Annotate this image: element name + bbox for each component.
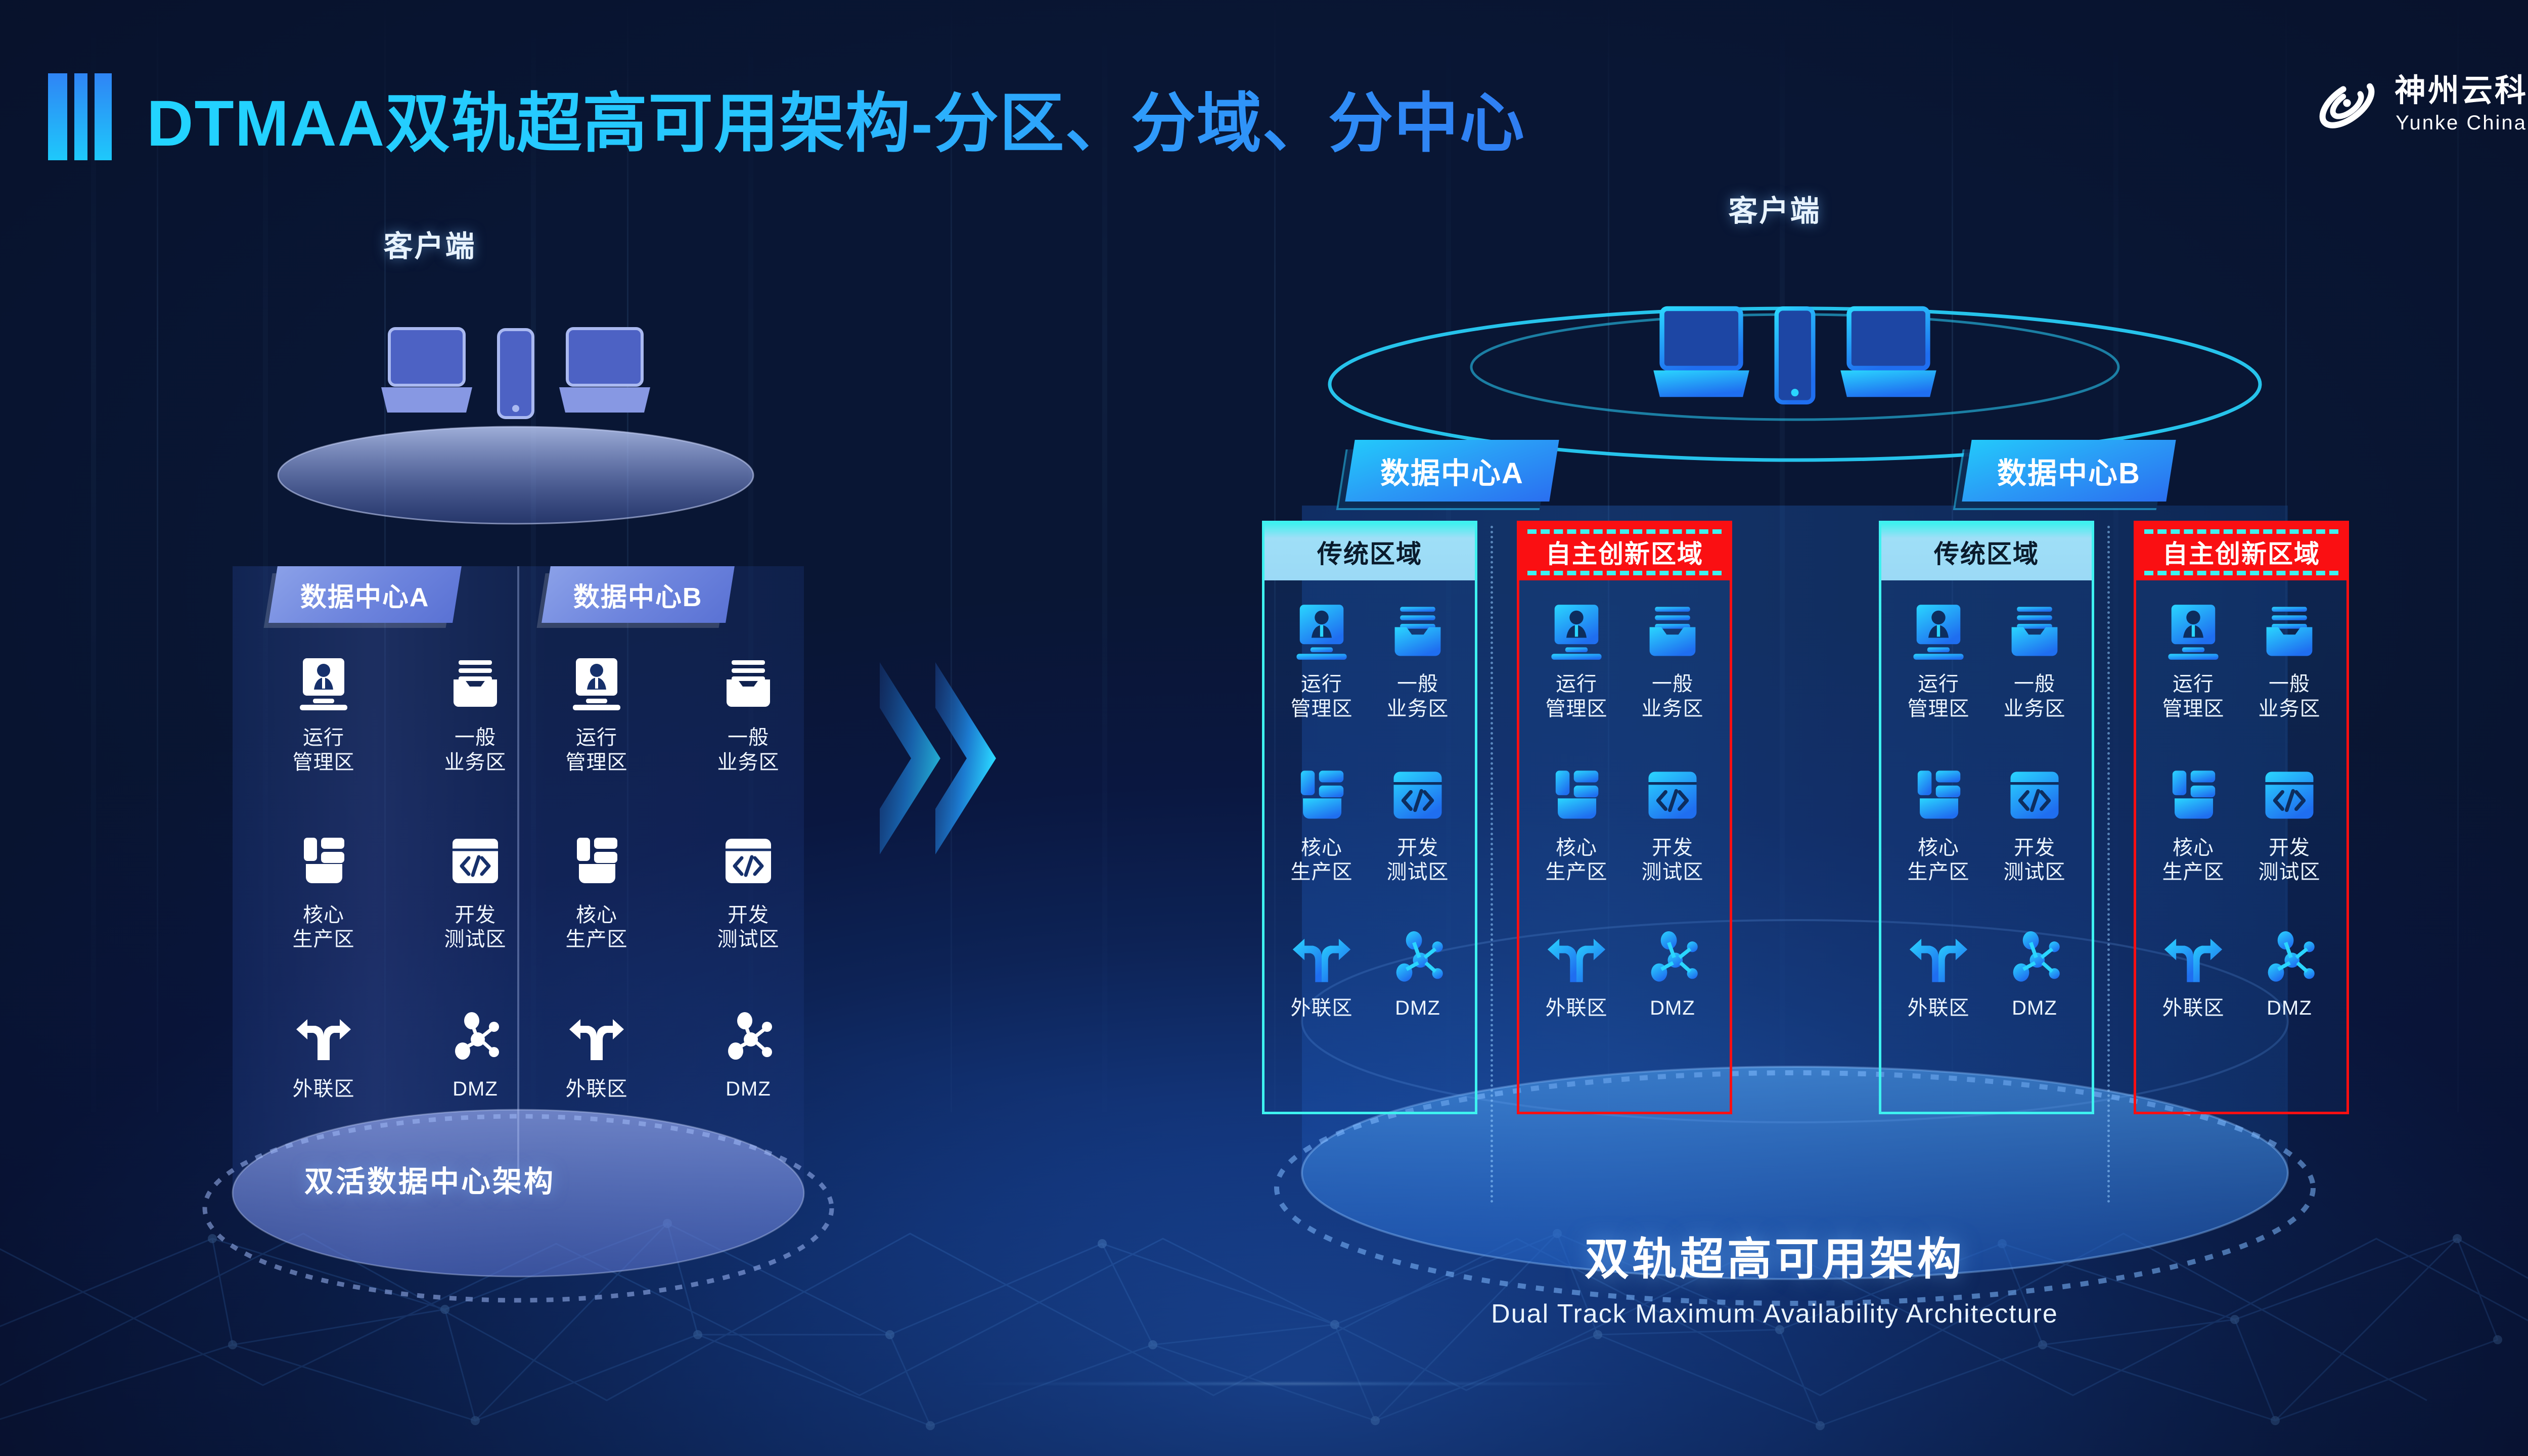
left-zone-label: 生产区 — [293, 927, 355, 952]
inbox-tray-icon — [1388, 604, 1448, 664]
right-bottom-title: 双轨超高可用架构 Dual Track Maximum Availability… — [961, 1223, 2528, 1329]
zone-cell[interactable]: 外联区 — [1890, 931, 1987, 1095]
monitor-user-icon — [1547, 604, 1606, 664]
code-window-icon — [2260, 767, 2319, 828]
left-zone-label: 业务区 — [444, 750, 507, 775]
zone-cell-label: 业务区 — [2259, 697, 2321, 721]
zone-cell-label: 一般 — [2014, 672, 2055, 697]
zone-header: 自主创新区域 — [2134, 521, 2349, 580]
left-dc-b-zone-column-2: 一般 业务区 开发 测试区 DMZ — [672, 657, 824, 1102]
inbox-tray-icon — [720, 657, 776, 714]
left-zone-label: 测试区 — [444, 927, 507, 952]
page-title: DTMAA双轨超高可用架构-分区、分域、分中心 — [147, 71, 1525, 164]
laptop-icon — [1835, 303, 1942, 404]
branch-arrows-icon — [569, 1012, 624, 1066]
zone-body: 运行管理区 一般业务区 核心生产区 开发测试区 外联区 DMZ — [2134, 580, 2349, 1114]
zone-cell-label: 外联区 — [1291, 996, 1353, 1021]
bottom-title-en: Dual Track Maximum Availability Architec… — [961, 1299, 2528, 1329]
zone-cell[interactable]: 运行管理区 — [1890, 604, 1987, 767]
left-zone-label: 开发 — [728, 903, 769, 928]
zone-cell-label: 业务区 — [1387, 697, 1449, 721]
zone-cell[interactable]: DMZ — [2241, 931, 2337, 1095]
branch-arrows-icon — [2163, 931, 2223, 988]
zone-cell-label: DMZ — [2012, 996, 2057, 1021]
zone-cell-label: 测试区 — [2259, 860, 2321, 885]
left-zone-label: 管理区 — [566, 750, 628, 775]
zone-cell[interactable]: 一般业务区 — [1987, 604, 2083, 767]
zone-cell[interactable]: 核心生产区 — [1528, 767, 1624, 931]
code-window-icon — [2005, 767, 2064, 828]
left-zone-cell[interactable]: DMZ — [672, 1012, 824, 1102]
server-stack-icon — [296, 835, 351, 892]
branch-arrows-icon — [1909, 931, 1968, 988]
left-dc-tag-a[interactable]: 数据中心A — [268, 566, 461, 623]
zone-cell[interactable]: 一般业务区 — [2241, 604, 2337, 767]
code-window-icon — [447, 835, 503, 892]
zone-cell[interactable]: DMZ — [1624, 931, 1721, 1095]
inbox-tray-icon — [2005, 604, 2064, 664]
zone-cell[interactable]: 开发测试区 — [1370, 767, 1466, 931]
left-dc-tag-a-label: 数据中心A — [300, 576, 430, 614]
code-window-icon — [1643, 767, 1702, 828]
zone-cell-label: 开发 — [2014, 836, 2055, 860]
left-zone-cell[interactable]: 外联区 — [521, 1012, 672, 1102]
right-architecture-diagram: 客户端 — [961, 167, 2528, 1456]
left-zone-label: DMZ — [726, 1077, 771, 1102]
phone-icon — [1772, 306, 1818, 404]
zone-cell-label: 一般 — [2269, 672, 2310, 697]
code-window-icon — [720, 835, 776, 892]
zone-cell-label: 业务区 — [2004, 697, 2066, 721]
zone-body: 运行管理区 一般业务区 核心生产区 开发测试区 外联区 DMZ — [1879, 580, 2094, 1114]
left-zone-label: 外联区 — [293, 1077, 355, 1102]
zone-cell[interactable]: 核心生产区 — [1274, 767, 1370, 931]
zone-cell-label: 管理区 — [1546, 697, 1608, 721]
laptop-icon — [1648, 303, 1755, 404]
zone-cell-label: 测试区 — [1642, 860, 1704, 885]
right-client-label: 客户端 — [961, 187, 2528, 230]
zone-cell-label: 运行 — [1301, 672, 1342, 697]
zone-cell[interactable]: 外联区 — [2145, 931, 2241, 1095]
inbox-tray-icon — [2260, 604, 2319, 664]
brand-logo: 神州云科 Yunke China — [2314, 71, 2528, 138]
zone-body: 运行管理区 一般业务区 核心生产区 开发测试区 外联区 DMZ — [1262, 580, 1477, 1114]
left-dc-tag-b-label: 数据中心B — [573, 576, 703, 614]
zone-cell-label: 管理区 — [1908, 697, 1970, 721]
zone-cell-label: DMZ — [1650, 996, 1695, 1021]
zone-header-label: 自主创新区域 — [1546, 534, 1703, 570]
zone-cell-label: 管理区 — [2162, 697, 2225, 721]
zone-cell-label: 运行 — [1918, 672, 1959, 697]
zone-cell[interactable]: 开发测试区 — [1987, 767, 2083, 931]
zone-cell-label: 测试区 — [1387, 860, 1449, 885]
left-zone-cell[interactable]: 运行 管理区 — [248, 657, 399, 775]
brand-name-cn: 神州云科 — [2395, 75, 2528, 107]
left-dc-b-zone-column-1: 运行 管理区 核心 生产区 外联区 — [521, 657, 672, 1102]
right-client-devices — [1593, 303, 1997, 404]
zone-body: 运行管理区 一般业务区 核心生产区 开发测试区 外联区 DMZ — [1517, 580, 1732, 1114]
zone-dc-a-innovation[interactable]: 自主创新区域 运行管理区 一般业务区 核心生产区 开发测试区 外联区 DMZ — [1517, 521, 1732, 1114]
right-dc-tag-a[interactable]: 数据中心A — [1345, 440, 1559, 502]
left-client-label: 客户端 — [0, 222, 860, 265]
left-zone-label: 核心 — [303, 903, 344, 928]
server-stack-icon — [1909, 767, 1968, 828]
zone-cell-label: 开发 — [1397, 836, 1438, 860]
zone-cell[interactable]: 开发测试区 — [1624, 767, 1721, 931]
server-stack-icon — [1547, 767, 1606, 828]
zone-cell-label: 生产区 — [1291, 860, 1353, 885]
server-stack-icon — [569, 835, 624, 892]
dc-a-zone-divider — [1491, 526, 1493, 1203]
zone-cell-label: 生产区 — [2162, 860, 2225, 885]
zone-cell-label: 外联区 — [2162, 996, 2225, 1021]
zone-cell-label: 一般 — [1397, 672, 1438, 697]
inbox-tray-icon — [1643, 604, 1702, 664]
zone-cell-label: 外联区 — [1908, 996, 1970, 1021]
zone-cell[interactable]: 外联区 — [1274, 931, 1370, 1095]
network-nodes-icon — [1643, 931, 1702, 988]
monitor-user-icon — [1909, 604, 1968, 664]
network-nodes-icon — [720, 1012, 776, 1066]
zone-cell-label: DMZ — [2267, 996, 2312, 1021]
double-chevron-right-icon — [880, 657, 1031, 859]
right-dc-tag-a-label: 数据中心A — [1380, 449, 1524, 492]
zone-cell-label: 运行 — [2173, 672, 2214, 697]
zone-cell-label: 开发 — [2269, 836, 2310, 860]
zone-cell[interactable]: 运行管理区 — [1274, 604, 1370, 767]
left-zone-cell[interactable]: 一般 业务区 — [672, 657, 824, 775]
zone-cell[interactable]: 运行管理区 — [1528, 604, 1624, 767]
server-stack-icon — [2163, 767, 2223, 828]
left-architecture-diagram: 客户端 — [0, 212, 860, 1274]
zone-header: 传统区域 — [1879, 521, 2094, 580]
zone-cell-label: 测试区 — [2004, 860, 2066, 885]
zone-cell-label: 外联区 — [1546, 996, 1608, 1021]
left-zone-label: 测试区 — [717, 927, 780, 952]
network-nodes-icon — [1388, 931, 1448, 988]
left-zone-label: 核心 — [576, 903, 617, 928]
zone-cell-label: 核心 — [2173, 836, 2214, 860]
zone-cell[interactable]: 运行管理区 — [2145, 604, 2241, 767]
network-nodes-icon — [2005, 931, 2064, 988]
left-diagram-caption: 双活数据中心架构 — [0, 1158, 860, 1200]
left-zone-label: 运行 — [576, 725, 617, 750]
zone-cell[interactable]: 核心生产区 — [2145, 767, 2241, 931]
left-zone-label: 生产区 — [566, 927, 628, 952]
left-zone-cell[interactable]: 运行 管理区 — [521, 657, 672, 775]
zone-cell-label: 核心 — [1301, 836, 1342, 860]
zone-dc-b-traditional[interactable]: 传统区域 运行管理区 一般业务区 核心生产区 开发测试区 外联区 DMZ — [1879, 521, 2094, 1114]
zone-header-label: 自主创新区域 — [2162, 534, 2320, 570]
zone-header-label: 传统区域 — [1934, 534, 2039, 570]
zone-cell-label: 运行 — [1556, 672, 1597, 697]
branch-arrows-icon — [296, 1012, 351, 1066]
zone-cell-label: DMZ — [1395, 996, 1440, 1021]
left-dc-a-zone-column-1: 运行 管理区 核心 生产区 外联区 — [248, 657, 399, 1102]
dc-b-zone-divider — [2107, 526, 2110, 1203]
branch-arrows-icon — [1292, 931, 1351, 988]
branch-arrows-icon — [1547, 931, 1606, 988]
zone-cell-label: 核心 — [1918, 836, 1959, 860]
network-nodes-icon — [447, 1012, 503, 1066]
zone-cell-label: 生产区 — [1546, 860, 1608, 885]
zone-cell[interactable]: 核心生产区 — [1890, 767, 1987, 931]
zone-dc-b-innovation[interactable]: 自主创新区域 运行管理区 一般业务区 核心生产区 开发测试区 外联区 DMZ — [2134, 521, 2349, 1114]
zone-dc-a-traditional[interactable]: 传统区域 运行管理区 一般业务区 核心生产区 开发测试区 外联区 DMZ — [1262, 521, 1477, 1114]
zone-cell-label: 业务区 — [1642, 697, 1704, 721]
left-zone-cell[interactable]: 外联区 — [248, 1012, 399, 1102]
left-dc-tag-b[interactable]: 数据中心B — [541, 566, 734, 623]
left-client-devices — [283, 324, 748, 420]
zone-cell[interactable]: 一般业务区 — [1624, 604, 1721, 767]
left-zone-label: 开发 — [455, 903, 496, 928]
left-zone-label: 一般 — [455, 725, 496, 750]
inbox-tray-icon — [447, 657, 503, 714]
yunke-swirl-icon — [2314, 71, 2380, 138]
left-client-platform — [263, 415, 769, 546]
left-zone-cell[interactable]: 核心 生产区 — [521, 835, 672, 952]
monitor-user-icon — [1292, 604, 1351, 664]
right-dc-tag-b[interactable]: 数据中心B — [1962, 440, 2176, 502]
zone-cell[interactable]: 开发测试区 — [2241, 767, 2337, 931]
zone-header-label: 传统区域 — [1317, 534, 1422, 570]
zone-cell[interactable]: 外联区 — [1528, 931, 1624, 1095]
left-zone-cell[interactable]: 核心 生产区 — [248, 835, 399, 952]
network-nodes-icon — [2260, 931, 2319, 988]
left-zone-label: 一般 — [728, 725, 769, 750]
left-zone-label: 业务区 — [717, 750, 780, 775]
laptop-icon — [554, 324, 655, 420]
server-stack-icon — [1292, 767, 1351, 828]
transition-arrow — [880, 657, 1031, 862]
code-window-icon — [1388, 767, 1448, 828]
zone-cell-label: 生产区 — [1908, 860, 1970, 885]
zone-cell[interactable]: 一般业务区 — [1370, 604, 1466, 767]
bottom-title-cn: 双轨超高可用架构 — [961, 1223, 2528, 1288]
zone-cell-label: 核心 — [1556, 836, 1597, 860]
title-accent-bars — [48, 73, 112, 160]
zone-cell-label: 开发 — [1652, 836, 1693, 860]
monitor-user-icon — [2163, 604, 2223, 664]
laptop-icon — [376, 324, 477, 420]
left-zone-cell[interactable]: 开发 测试区 — [672, 835, 824, 952]
left-zone-label: DMZ — [453, 1077, 498, 1102]
zone-cell-label: 管理区 — [1291, 697, 1353, 721]
left-zone-label: 管理区 — [293, 750, 355, 775]
phone-icon — [494, 328, 537, 420]
zone-cell[interactable]: DMZ — [1987, 931, 2083, 1095]
monitor-user-icon — [569, 657, 624, 714]
left-zone-label: 运行 — [303, 725, 344, 750]
left-zone-label: 外联区 — [566, 1077, 628, 1102]
brand-name-en: Yunke China — [2396, 113, 2527, 133]
right-dc-tag-b-label: 数据中心B — [1997, 449, 2141, 492]
monitor-user-icon — [296, 657, 351, 714]
zone-header: 传统区域 — [1262, 521, 1477, 580]
zone-header: 自主创新区域 — [1517, 521, 1732, 580]
zone-cell[interactable]: DMZ — [1370, 931, 1466, 1095]
zone-cell-label: 一般 — [1652, 672, 1693, 697]
